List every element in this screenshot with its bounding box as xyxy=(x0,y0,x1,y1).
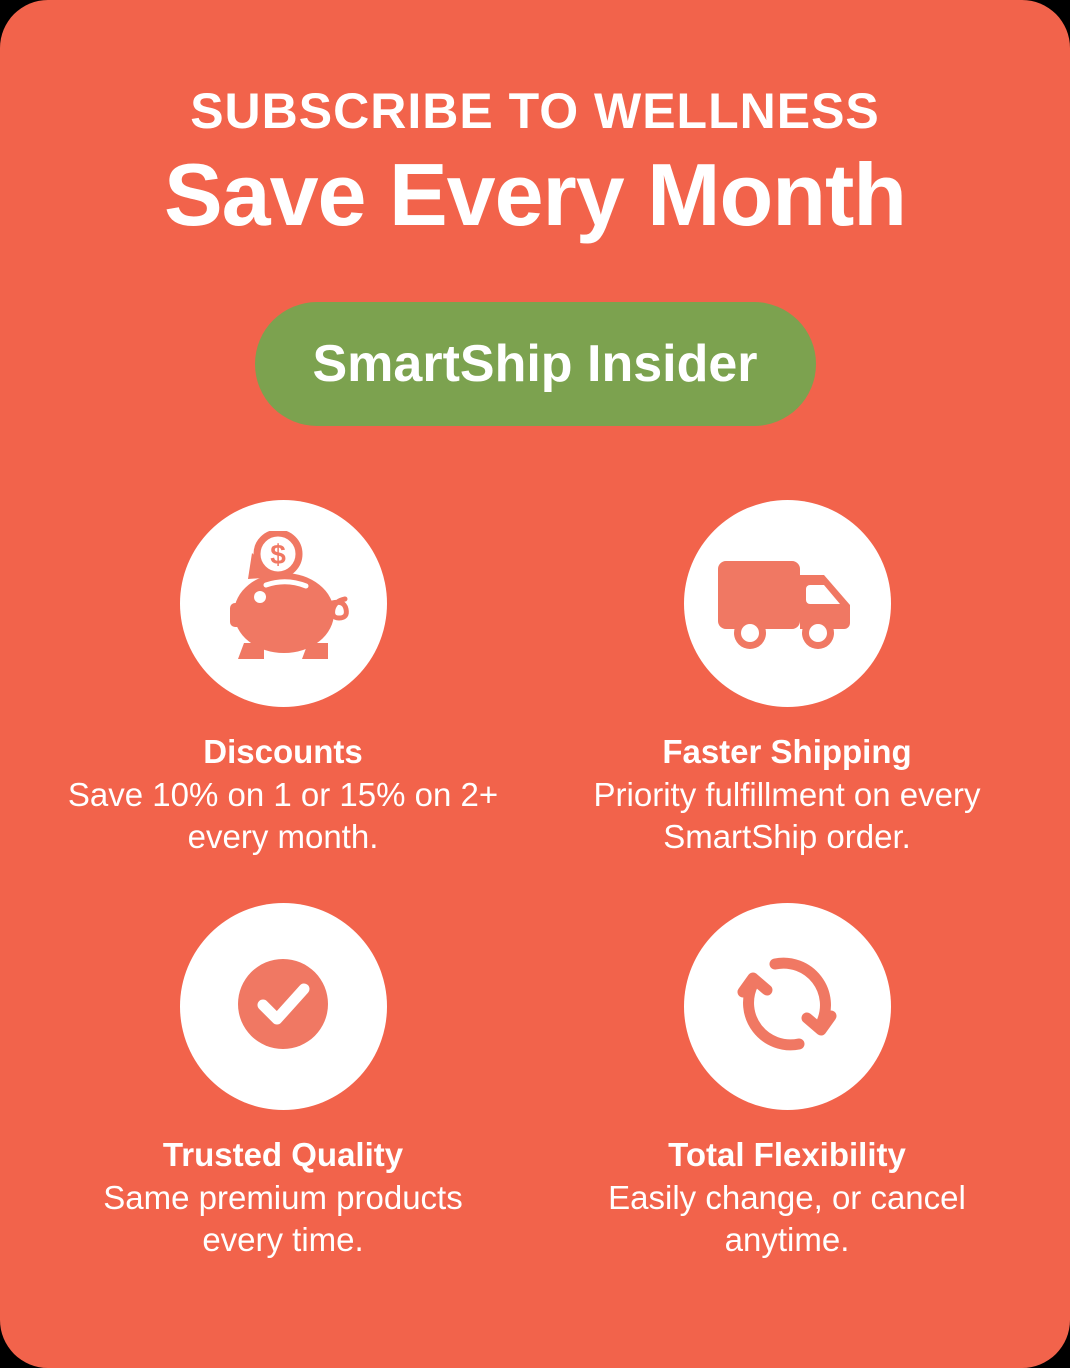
feature-description: Save 10% on 1 or 15% on 2+ every month. xyxy=(63,774,503,858)
check-circle-icon xyxy=(237,958,329,1055)
svg-text:$: $ xyxy=(270,539,286,570)
eyebrow-text: SUBSCRIBE TO WELLNESS xyxy=(190,86,880,136)
subscription-promo-card: SUBSCRIBE TO WELLNESS Save Every Month S… xyxy=(0,0,1070,1368)
feature-grid: $ xyxy=(35,500,1035,1262)
feature-title: Faster Shipping xyxy=(662,734,911,770)
feature-discounts: $ xyxy=(43,500,523,859)
feature-title: Total Flexibility xyxy=(668,1137,906,1173)
icon-circle-total-flexibility xyxy=(684,903,891,1110)
feature-description: Priority fulfillment on every SmartShip … xyxy=(567,774,1007,858)
feature-description: Same premium products every time. xyxy=(63,1177,503,1261)
icon-circle-faster-shipping xyxy=(684,500,891,707)
page-title: Save Every Month xyxy=(164,150,906,240)
feature-title: Discounts xyxy=(203,734,363,770)
feature-description: Easily change, or cancel anytime. xyxy=(567,1177,1007,1261)
smartship-insider-button[interactable]: SmartShip Insider xyxy=(255,302,816,426)
piggy-bank-icon: $ xyxy=(208,531,358,676)
feature-trusted-quality: Trusted Quality Same premium products ev… xyxy=(43,903,523,1262)
icon-circle-trusted-quality xyxy=(180,903,387,1110)
feature-faster-shipping: Faster Shipping Priority fulfillment on … xyxy=(547,500,1027,859)
cta-container: SmartShip Insider xyxy=(255,302,816,426)
feature-title: Trusted Quality xyxy=(163,1137,403,1173)
feature-total-flexibility: Total Flexibility Easily change, or canc… xyxy=(547,903,1027,1262)
delivery-truck-icon xyxy=(712,541,862,666)
refresh-cycle-icon xyxy=(733,950,841,1063)
icon-circle-discounts: $ xyxy=(180,500,387,707)
